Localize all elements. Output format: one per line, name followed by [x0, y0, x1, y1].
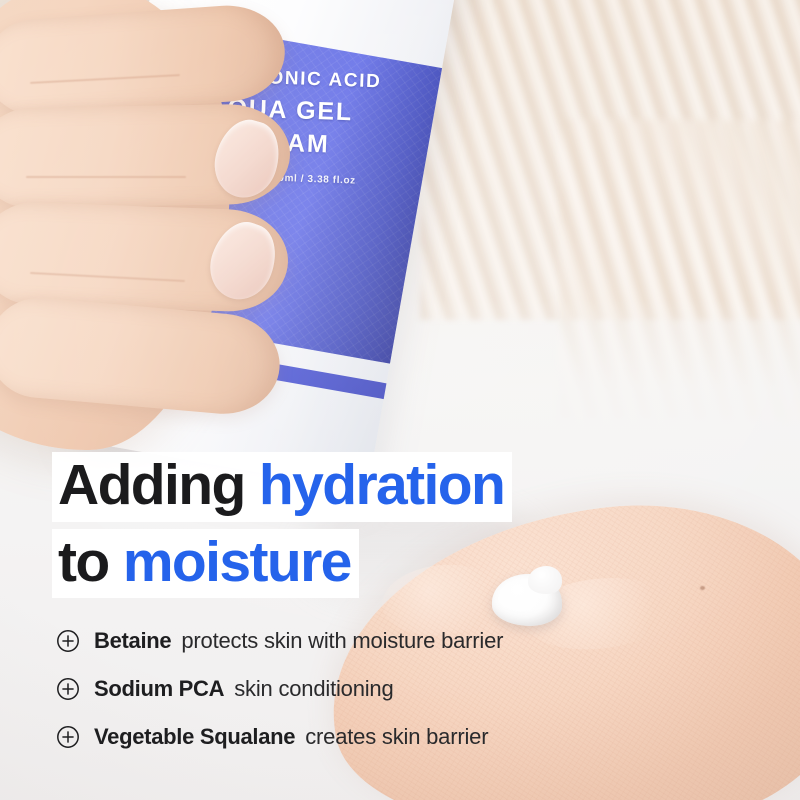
benefit-description: skin conditioning	[234, 676, 393, 702]
benefit-description: protects skin with moisture barrier	[181, 628, 503, 654]
headline-line-2-dark: to	[58, 530, 123, 594]
benefit-item: Sodium PCA skin conditioning	[56, 676, 756, 702]
benefit-item: Vegetable Squalane creates skin barrier	[56, 724, 756, 750]
benefit-description: creates skin barrier	[305, 724, 488, 750]
headline-line-1-accent: hydration	[259, 453, 504, 517]
headline-line-1-dark: Adding	[58, 453, 259, 517]
plus-circle-icon	[56, 629, 80, 653]
benefit-ingredient: Vegetable Squalane	[94, 724, 295, 750]
plus-circle-icon	[56, 725, 80, 749]
benefit-ingredient: Betaine	[94, 628, 171, 654]
product-marketing-banner: AQUA HYALURONIC ACID AQUA GEL CREAM 100m…	[0, 0, 800, 800]
headline-line-2: to moisture	[52, 529, 359, 599]
benefit-item: Betaine protects skin with moisture barr…	[56, 628, 756, 654]
benefit-ingredient: Sodium PCA	[94, 676, 224, 702]
benefits-list: Betaine protects skin with moisture barr…	[56, 628, 756, 772]
headline-line-2-accent: moisture	[123, 530, 351, 594]
plus-circle-icon	[56, 677, 80, 701]
headline: Adding hydration to moisture	[52, 452, 512, 605]
headline-line-1: Adding hydration	[52, 452, 512, 522]
